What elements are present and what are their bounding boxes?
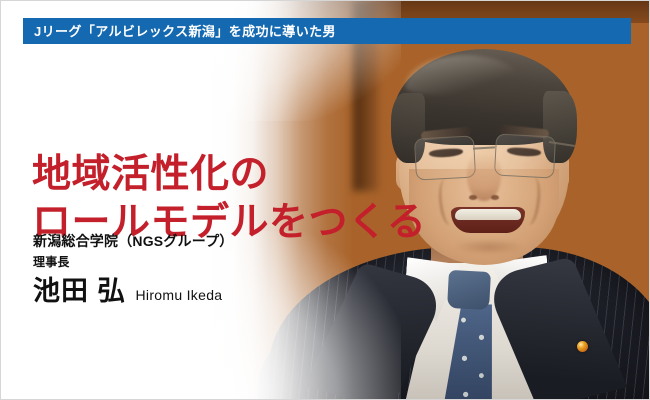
headline-line-1: 地域活性化の — [32, 151, 426, 199]
person-name-row: 池田 弘 Hiromu Ikeda — [33, 275, 234, 311]
person-name-romaji: Hiromu Ikeda — [136, 279, 223, 311]
article-header-banner: Jリーグ「アルビレックス新潟」を成功に導いた男 地域活性化の ロールモデルをつく… — [0, 0, 650, 400]
necktie-knot — [447, 270, 491, 310]
mouth — [451, 207, 525, 233]
nostril-right — [491, 195, 499, 200]
chin-shadow — [453, 239, 525, 255]
kicker-text: Jリーグ「アルビレックス新潟」を成功に導いた男 — [34, 25, 336, 38]
nose — [467, 153, 501, 201]
kicker-bar: Jリーグ「アルビレックス新潟」を成功に導いた男 — [23, 18, 631, 44]
lapel-pin — [577, 341, 588, 352]
teeth — [455, 209, 521, 220]
organization-name: 新潟総合学院（NGSグループ） — [33, 231, 234, 251]
byline-block: 新潟総合学院（NGSグループ） 理事長 池田 弘 Hiromu Ikeda — [33, 231, 234, 311]
person-name-japanese: 池田 弘 — [33, 275, 126, 307]
nostril-left — [469, 195, 477, 200]
job-title: 理事長 — [33, 253, 234, 272]
eyeglasses-lens-right — [494, 133, 556, 178]
